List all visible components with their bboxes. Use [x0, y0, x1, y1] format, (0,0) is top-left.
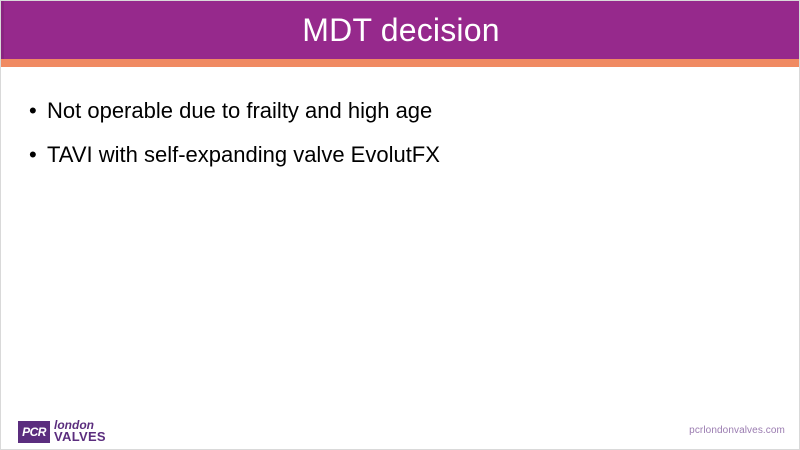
- pcr-logo-icon: PCR: [18, 421, 50, 443]
- pcr-logo-label: PCR: [22, 426, 46, 438]
- pcr-london-valves-logo: PCR london VALVES: [18, 420, 106, 443]
- footer-website-url: pcrlondonvalves.com: [689, 425, 785, 436]
- slide-header-band: MDT decision: [1, 1, 800, 59]
- bullet-dot-icon: •: [23, 97, 47, 125]
- bullet-text: Not operable due to frailty and high age: [47, 97, 763, 125]
- list-item: • Not operable due to frailty and high a…: [23, 97, 763, 125]
- bullet-dot-icon: •: [23, 141, 47, 169]
- logo-wordmark: london VALVES: [54, 420, 106, 443]
- bullet-text: TAVI with self-expanding valve EvolutFX: [47, 141, 763, 169]
- presentation-slide: MDT decision • Not operable due to frail…: [0, 0, 800, 450]
- page-title: MDT decision: [1, 1, 800, 59]
- header-accent-bar: [1, 59, 800, 67]
- slide-body: • Not operable due to frailty and high a…: [23, 97, 763, 185]
- list-item: • TAVI with self-expanding valve EvolutF…: [23, 141, 763, 169]
- logo-wordmark-line-2: VALVES: [54, 431, 106, 443]
